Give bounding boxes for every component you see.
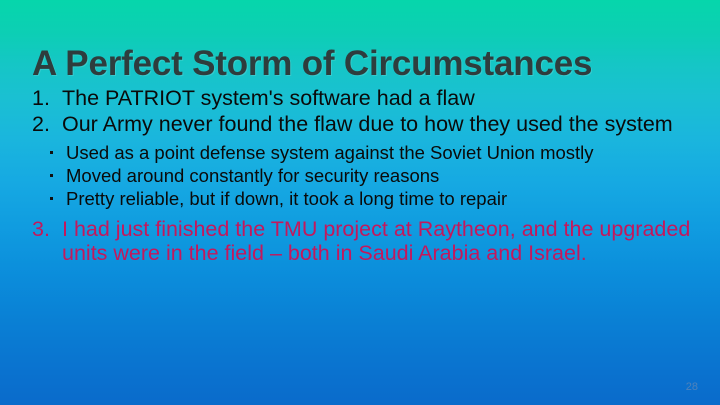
- list-item: Moved around constantly for security rea…: [0, 165, 720, 186]
- list-item-text: I had just finished the TMU project at R…: [62, 217, 690, 265]
- list-marker-number: 1.: [32, 86, 58, 110]
- list-item-text: The PATRIOT system's software had a flaw: [62, 86, 475, 110]
- bullet-dot-icon: [50, 151, 53, 154]
- slide-title: A Perfect Storm of Circumstances: [32, 46, 692, 83]
- bullet-dot-icon: [50, 174, 53, 177]
- list-item: 2. Our Army never found the flaw due to …: [0, 112, 720, 136]
- list-item-highlighted: 3. I had just finished the TMU project a…: [0, 217, 720, 265]
- list-item: 1. The PATRIOT system's software had a f…: [0, 86, 720, 110]
- presentation-slide: A Perfect Storm of Circumstances 1. The …: [0, 0, 720, 405]
- list-marker-number: 2.: [32, 112, 58, 136]
- list-item-text: Our Army never found the flaw due to how…: [62, 112, 673, 136]
- bullet-dot-icon: [50, 197, 53, 200]
- list-marker-number: 3.: [32, 217, 58, 241]
- list-item-text: Pretty reliable, but if down, it took a …: [66, 188, 507, 209]
- slide-body: 1. The PATRIOT system's software had a f…: [0, 86, 720, 268]
- list-item-text: Used as a point defense system against t…: [66, 142, 594, 163]
- slide-number: 28: [686, 381, 698, 393]
- list-item-text: Moved around constantly for security rea…: [66, 165, 439, 186]
- list-item: Pretty reliable, but if down, it took a …: [0, 188, 720, 209]
- list-item: Used as a point defense system against t…: [0, 142, 720, 163]
